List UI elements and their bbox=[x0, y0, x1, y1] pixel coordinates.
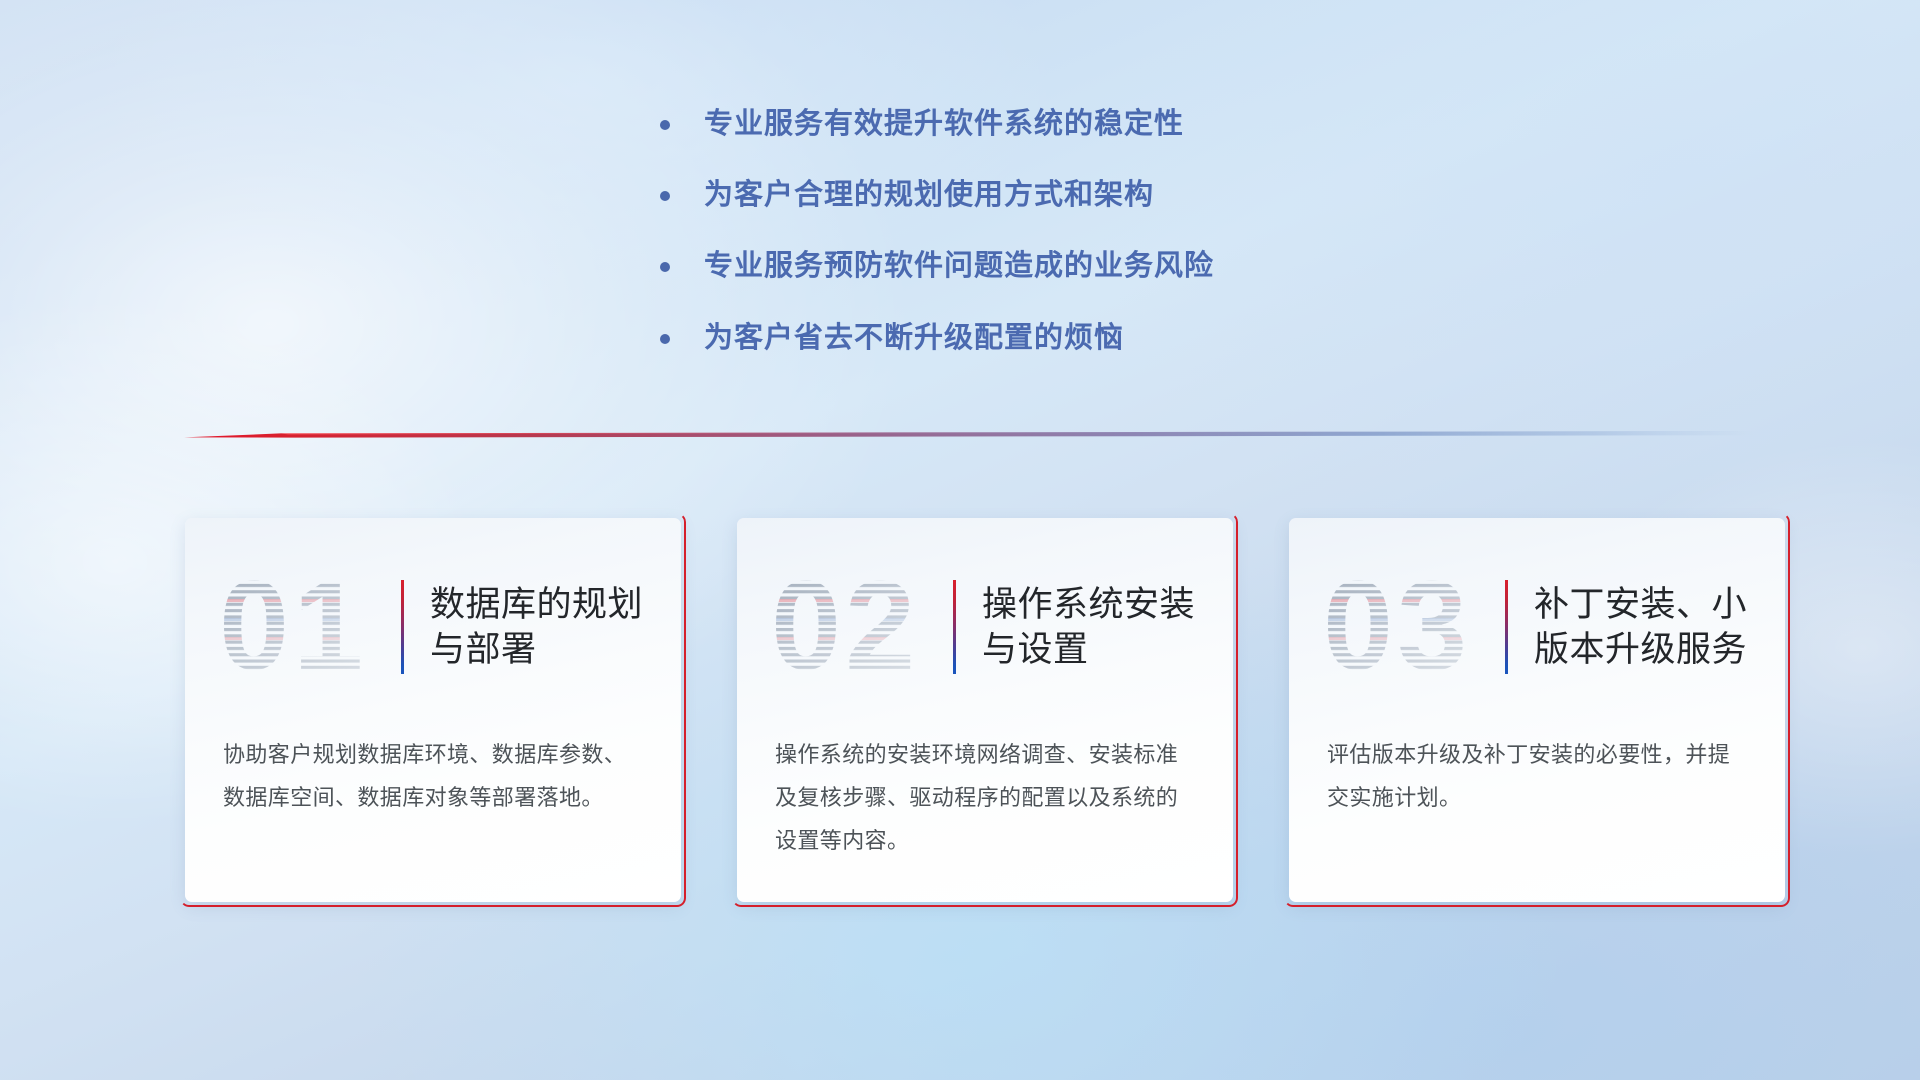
slide-canvas: 专业服务有效提升软件系统的稳定性 为客户合理的规划使用方式和架构 专业服务预防软… bbox=[0, 0, 1920, 1080]
bullet-dot-icon bbox=[660, 262, 670, 272]
card-title-accent-bar bbox=[953, 580, 956, 674]
service-card[interactable]: 01 数据库的规划与部署 协助客户规划数据库环境、数据库参数、数据库空间 bbox=[185, 518, 681, 902]
striped-number-icon: 01 bbox=[219, 565, 395, 689]
tapered-gradient-rule-icon bbox=[184, 429, 1754, 439]
card-header: 01 数据库的规划与部署 bbox=[223, 564, 643, 690]
card-header: 03 补丁安装、小版本升级服务 bbox=[1327, 564, 1747, 690]
bullet-text: 专业服务有效提升软件系统的稳定性 bbox=[704, 104, 1184, 145]
card-title-accent-bar bbox=[1505, 580, 1508, 674]
card-number-watermark: 02 bbox=[771, 565, 947, 689]
striped-number-icon: 02 bbox=[771, 565, 947, 689]
bullet-dot-icon bbox=[660, 334, 670, 344]
section-divider-rule bbox=[184, 426, 1754, 436]
card-title: 数据库的规划与部署 bbox=[430, 582, 643, 673]
card-title-accent-bar bbox=[401, 580, 404, 674]
card-description: 协助客户规划数据库环境、数据库参数、数据库空间、数据库对象等部署落地。 bbox=[223, 734, 643, 820]
striped-number-icon: 03 bbox=[1323, 565, 1499, 689]
list-item: 为客户合理的规划使用方式和架构 bbox=[660, 175, 1560, 216]
card-number-watermark: 03 bbox=[1323, 565, 1499, 689]
bullet-dot-icon bbox=[660, 120, 670, 130]
bullet-dot-icon bbox=[660, 191, 670, 201]
benefits-bullet-list: 专业服务有效提升软件系统的稳定性 为客户合理的规划使用方式和架构 专业服务预防软… bbox=[660, 104, 1560, 359]
card-title: 操作系统安装与设置 bbox=[982, 582, 1195, 673]
list-item: 为客户省去不断升级配置的烦恼 bbox=[660, 318, 1560, 359]
card-description: 评估版本升级及补丁安装的必要性，并提交实施计划。 bbox=[1327, 734, 1747, 820]
list-item: 专业服务有效提升软件系统的稳定性 bbox=[660, 104, 1560, 145]
list-item: 专业服务预防软件问题造成的业务风险 bbox=[660, 246, 1560, 287]
bullet-text: 为客户合理的规划使用方式和架构 bbox=[704, 175, 1154, 216]
service-card-list: 01 数据库的规划与部署 协助客户规划数据库环境、数据库参数、数据库空间 bbox=[185, 518, 1785, 902]
card-header: 02 操作系统安装与设置 bbox=[775, 564, 1195, 690]
card-title: 补丁安装、小版本升级服务 bbox=[1534, 582, 1747, 673]
bullet-text: 为客户省去不断升级配置的烦恼 bbox=[704, 318, 1124, 359]
bullet-text: 专业服务预防软件问题造成的业务风险 bbox=[704, 246, 1214, 287]
service-card[interactable]: 02 操作系统安装与设置 操作系统的安装环境网络调查、安装标准及复核步骤 bbox=[737, 518, 1233, 902]
service-card[interactable]: 03 补丁安装、小版本升级服务 评估版本升级及补丁安装的必要性，并提交实 bbox=[1289, 518, 1785, 902]
card-number-watermark: 01 bbox=[219, 565, 395, 689]
card-description: 操作系统的安装环境网络调查、安装标准及复核步骤、驱动程序的配置以及系统的设置等内… bbox=[775, 734, 1195, 863]
